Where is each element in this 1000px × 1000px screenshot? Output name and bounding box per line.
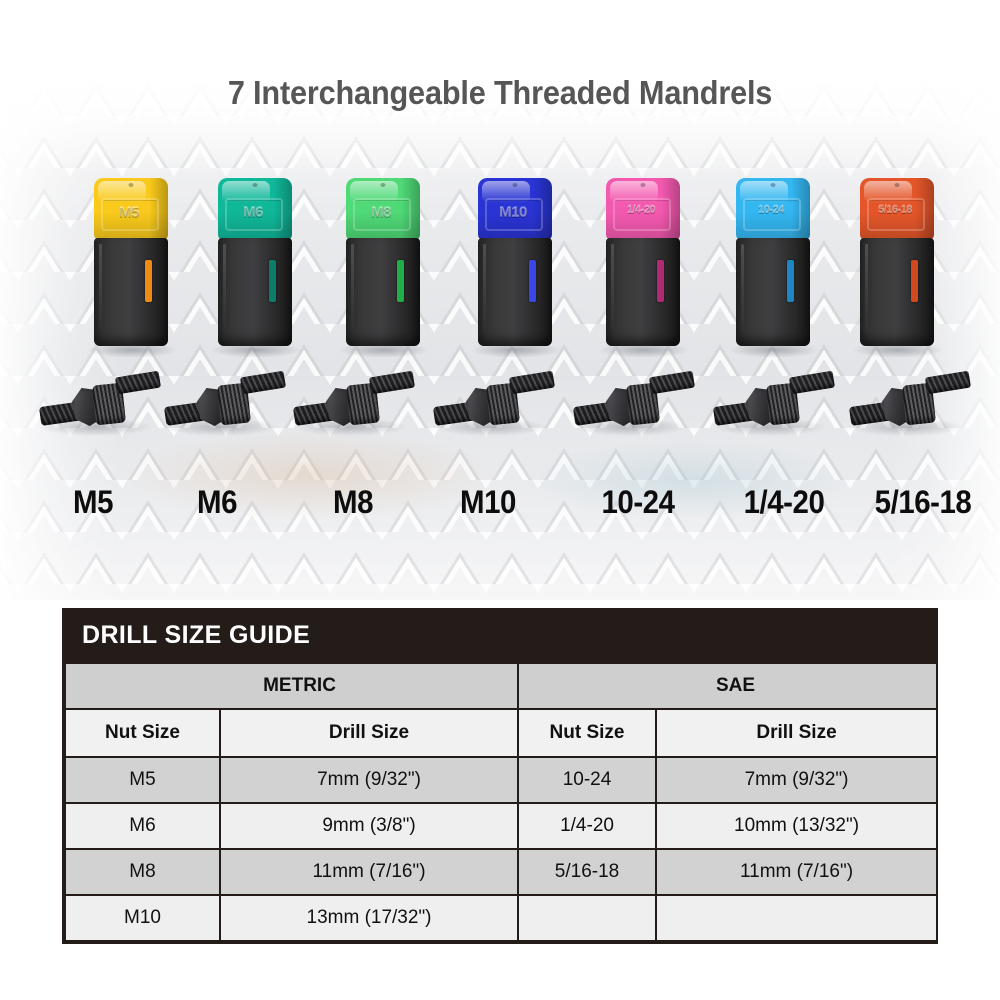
- threaded-mandrel: [572, 352, 692, 438]
- cap-label: 10-24: [736, 205, 806, 216]
- cap-label: 1/4-20: [606, 205, 676, 216]
- mandrel-thread-stud: [925, 371, 971, 395]
- cap-label: M6: [218, 205, 288, 220]
- table-row: M8 11mm (7/16") 5/16-18 11mm (7/16"): [65, 849, 937, 895]
- cartridge-body: [94, 238, 168, 346]
- sae-nut-size-header: Nut Size: [518, 709, 656, 757]
- mandrel-thread-stud: [115, 371, 161, 395]
- mandrel-cartridge: M5: [94, 178, 168, 346]
- mandrel-thread-stud: [649, 371, 695, 395]
- sae-drill-size-cell: [656, 895, 937, 941]
- size-label: M8: [293, 484, 413, 521]
- body-color-stripe: [911, 260, 918, 302]
- threaded-mandrel: [292, 352, 412, 438]
- sae-drill-size-cell: 11mm (7/16"): [656, 849, 937, 895]
- sae-drill-size-header: Drill Size: [656, 709, 937, 757]
- metric-nut-size-header: Nut Size: [65, 709, 220, 757]
- cartridge-cap: M5: [94, 178, 168, 240]
- sae-nut-size-cell: 10-24: [518, 757, 656, 803]
- cap-dimple-icon: [771, 183, 776, 187]
- threaded-mandrel: [712, 352, 832, 438]
- cap-label: M8: [346, 205, 416, 220]
- size-label: 5/16-18: [854, 484, 992, 521]
- body-edge-highlight: [611, 244, 614, 336]
- mandrel-thread-stud: [369, 371, 415, 395]
- metric-nut-size-cell: M6: [65, 803, 220, 849]
- body-edge-highlight: [351, 244, 354, 336]
- table-row: M10 13mm (17/32"): [65, 895, 937, 941]
- cartridge-cap: 10-24: [736, 178, 810, 240]
- system-header-row: METRIC SAE: [65, 663, 937, 709]
- metric-drill-size-cell: 11mm (7/16"): [220, 849, 518, 895]
- threaded-mandrel: [848, 352, 968, 438]
- metric-drill-size-cell: 7mm (9/32"): [220, 757, 518, 803]
- mandrel-thread-stud: [240, 371, 286, 395]
- body-edge-highlight: [741, 244, 744, 336]
- cap-dimple-icon: [895, 183, 900, 187]
- cartridge-cap: 1/4-20: [606, 178, 680, 240]
- body-color-stripe: [145, 260, 152, 302]
- cap-label: M10: [478, 205, 548, 220]
- size-label: 10-24: [569, 484, 707, 521]
- metric-nut-size-cell: M10: [65, 895, 220, 941]
- body-color-stripe: [529, 260, 536, 302]
- product-infographic: 7 Interchangeable Threaded Mandrels M5 M…: [0, 0, 1000, 1000]
- body-color-stripe: [269, 260, 276, 302]
- metric-drill-size-header: Drill Size: [220, 709, 518, 757]
- size-label: M6: [157, 484, 277, 521]
- sae-nut-size-cell: [518, 895, 656, 941]
- mandrel-cartridge: 10-24: [736, 178, 810, 346]
- cartridge-body: [606, 238, 680, 346]
- drill-size-table: METRIC SAE Nut Size Drill Size Nut Size …: [64, 662, 938, 942]
- cap-dimple-icon: [513, 183, 518, 187]
- column-header-row: Nut Size Drill Size Nut Size Drill Size: [65, 709, 937, 757]
- threaded-mandrel: [432, 352, 552, 438]
- mandrel-cartridge: M6: [218, 178, 292, 346]
- table-row: M6 9mm (3/8") 1/4-20 10mm (13/32"): [65, 803, 937, 849]
- metric-nut-size-cell: M5: [65, 757, 220, 803]
- mandrel-thread-stud: [509, 371, 555, 395]
- metric-drill-size-cell: 9mm (3/8"): [220, 803, 518, 849]
- body-edge-highlight: [223, 244, 226, 336]
- body-color-stripe: [397, 260, 404, 302]
- size-label: M10: [428, 484, 548, 521]
- sae-nut-size-cell: 1/4-20: [518, 803, 656, 849]
- sae-drill-size-cell: 10mm (13/32"): [656, 803, 937, 849]
- cap-dimple-icon: [253, 183, 258, 187]
- metric-system-label: METRIC: [65, 663, 518, 709]
- size-label: 1/4-20: [715, 484, 853, 521]
- mandrel-cartridge: 5/16-18: [860, 178, 934, 346]
- cartridge-body: [478, 238, 552, 346]
- sae-drill-size-cell: 7mm (9/32"): [656, 757, 937, 803]
- threaded-mandrel: [163, 352, 283, 438]
- cartridge-cap: M8: [346, 178, 420, 240]
- cap-dimple-icon: [381, 183, 386, 187]
- drill-size-guide: DRILL SIZE GUIDE METRIC SAE Nut Size Dri…: [62, 608, 938, 944]
- cartridge-cap: M6: [218, 178, 292, 240]
- threaded-mandrel: [38, 352, 158, 438]
- body-color-stripe: [787, 260, 794, 302]
- size-label: M5: [33, 484, 153, 521]
- mandrel-cartridge: 1/4-20: [606, 178, 680, 346]
- cartridge-body: [346, 238, 420, 346]
- sae-system-label: SAE: [518, 663, 937, 709]
- mandrel-cartridge: M8: [346, 178, 420, 346]
- cap-label: 5/16-18: [860, 205, 930, 216]
- cartridge-cap: M10: [478, 178, 552, 240]
- cap-dimple-icon: [129, 183, 134, 187]
- cartridge-body: [736, 238, 810, 346]
- table-row: M5 7mm (9/32") 10-24 7mm (9/32"): [65, 757, 937, 803]
- cartridge-body: [860, 238, 934, 346]
- metric-drill-size-cell: 13mm (17/32"): [220, 895, 518, 941]
- body-color-stripe: [657, 260, 664, 302]
- cap-dimple-icon: [641, 183, 646, 187]
- mandrel-thread-stud: [789, 371, 835, 395]
- page-title: 7 Interchangeable Threaded Mandrels: [35, 74, 965, 112]
- body-edge-highlight: [483, 244, 486, 336]
- cartridge-body: [218, 238, 292, 346]
- cap-label: M5: [94, 205, 164, 220]
- body-edge-highlight: [99, 244, 102, 336]
- cartridge-cap: 5/16-18: [860, 178, 934, 240]
- sae-nut-size-cell: 5/16-18: [518, 849, 656, 895]
- body-edge-highlight: [865, 244, 868, 336]
- metric-nut-size-cell: M8: [65, 849, 220, 895]
- guide-heading: DRILL SIZE GUIDE: [64, 610, 936, 662]
- mandrel-cartridge: M10: [478, 178, 552, 346]
